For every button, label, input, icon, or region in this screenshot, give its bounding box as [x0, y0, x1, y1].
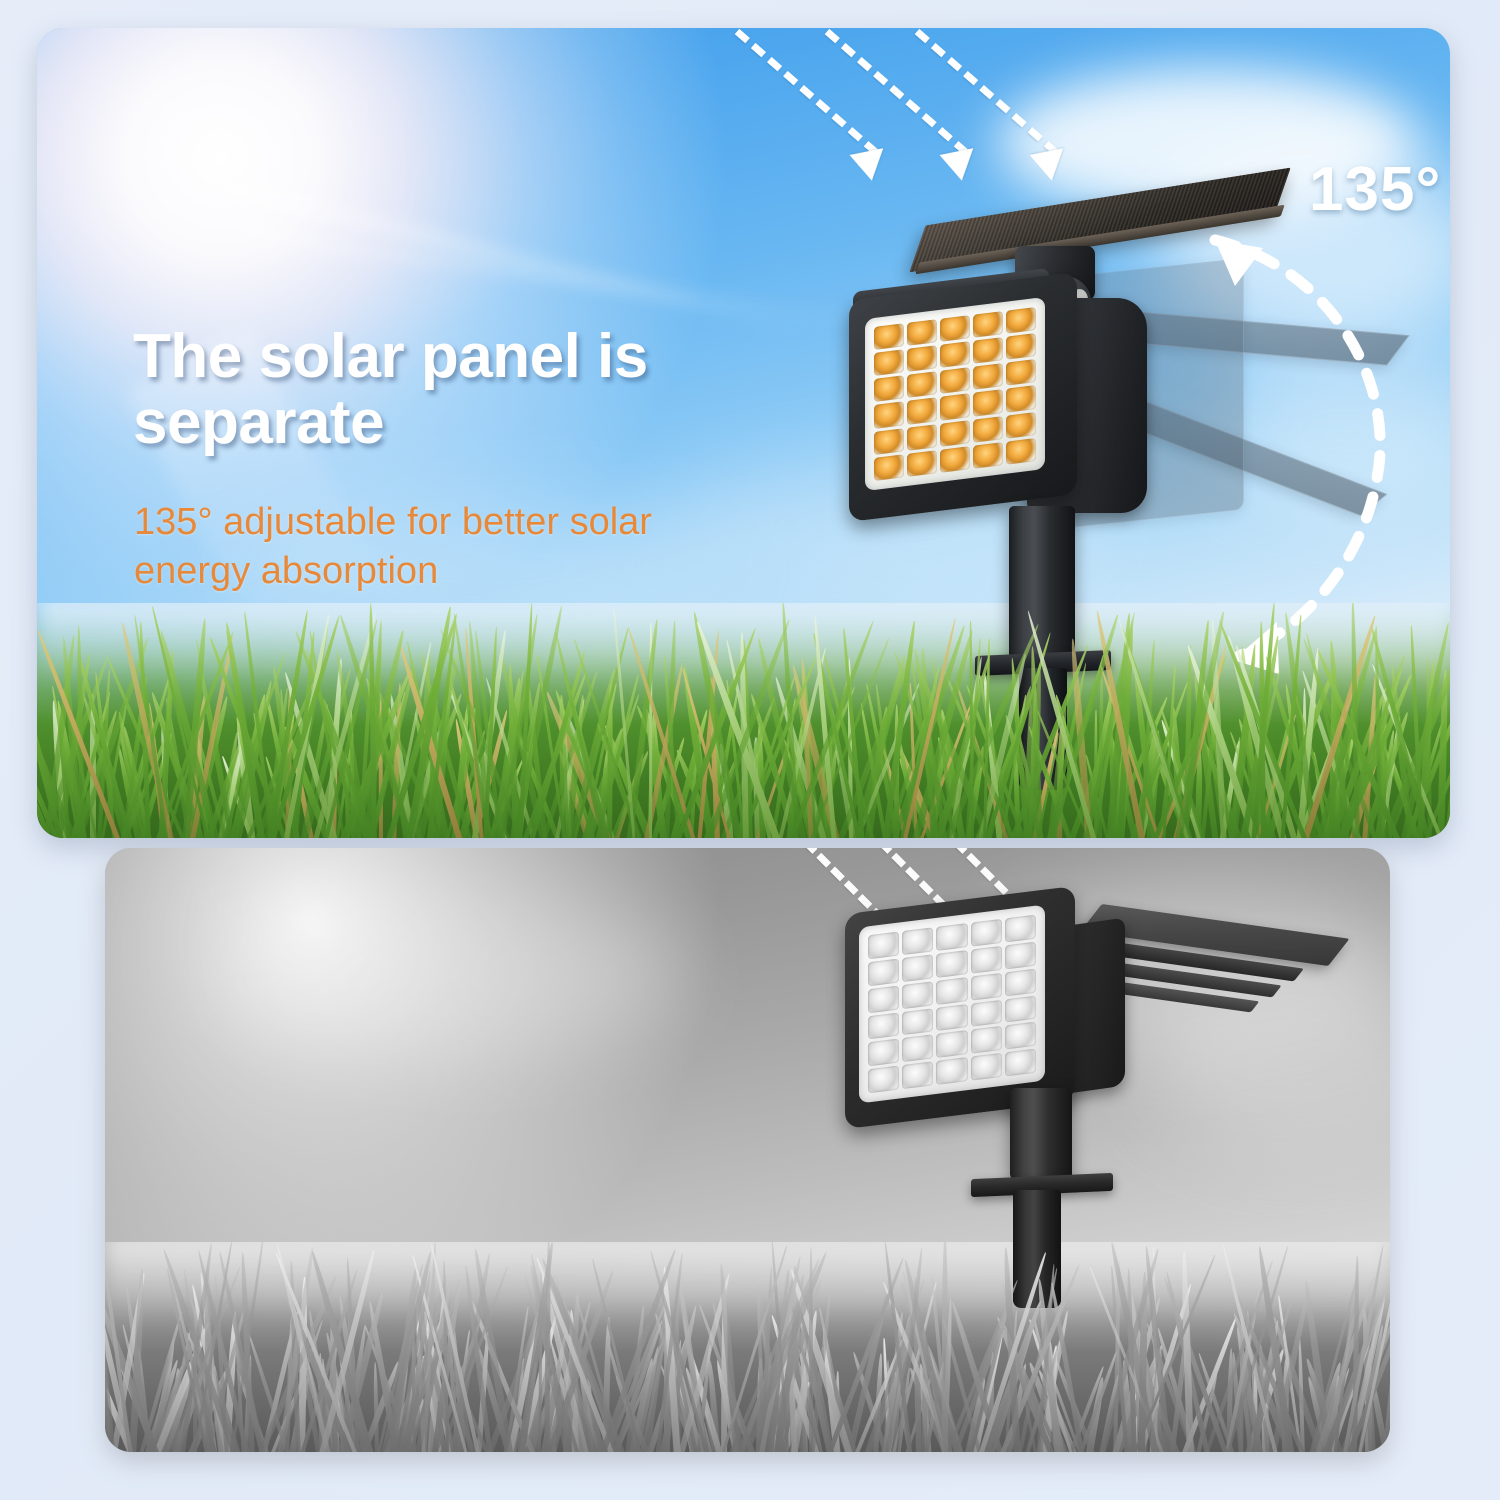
sun-ray-arrow: [917, 28, 1087, 198]
card-sunny-adjustable: 135° The solar panel is separate 135° ad…: [37, 28, 1450, 838]
led-emitter: [1005, 942, 1036, 970]
led-emitter: [936, 977, 967, 1005]
led-emitter: [868, 1066, 899, 1094]
led-emitter: [1005, 1049, 1036, 1077]
led-emitter: [940, 341, 970, 368]
led-emitter: [973, 363, 1003, 390]
led-emitter: [940, 367, 970, 394]
page-subtitle-top: 135° adjustable for better solar energy …: [134, 498, 814, 597]
led-emitter: [973, 337, 1003, 364]
led-emitter: [874, 454, 904, 481]
led-emitter: [902, 1061, 933, 1089]
led-emitter: [1005, 968, 1036, 996]
led-emitter: [971, 1053, 1002, 1081]
led-emitter: [907, 345, 937, 372]
led-emitter: [868, 958, 899, 986]
led-emitter: [971, 946, 1002, 974]
led-emitter: [1006, 307, 1036, 334]
led-emitter: [971, 1026, 1002, 1054]
led-head-cool: [845, 900, 1075, 1115]
led-emitter: [971, 973, 1002, 1001]
led-emitter: [936, 1004, 967, 1032]
led-emitter: [907, 372, 937, 399]
grass-field-grey: [105, 1242, 1390, 1452]
led-emitter: [1006, 438, 1036, 465]
led-emitter: [902, 954, 933, 982]
led-emitter: [973, 390, 1003, 417]
led-emitter: [874, 402, 904, 429]
led-emitter: [1006, 359, 1036, 386]
led-emitter: [1005, 995, 1036, 1023]
led-emitter: [874, 323, 904, 350]
led-emitter: [936, 1030, 967, 1058]
angle-label: 135°: [1309, 154, 1441, 225]
led-emitter: [902, 1035, 933, 1063]
led-emitter: [868, 931, 899, 959]
led-emitter: [907, 319, 937, 346]
led-emitter: [907, 398, 937, 425]
led-emitter: [940, 420, 970, 447]
led-emitter: [907, 450, 937, 477]
page-title-top: The solar panel is separate: [133, 324, 833, 455]
product-comparison-graphic: 135° The solar panel is separate 135° ad…: [0, 0, 1500, 1500]
led-emitter: [874, 376, 904, 403]
led-emitter: [973, 311, 1003, 338]
grass-blade: [942, 1242, 948, 1452]
led-emitter: [971, 919, 1002, 947]
led-emitter: [936, 923, 967, 951]
led-head-warm: [849, 286, 1077, 508]
led-emitter: [1006, 412, 1036, 439]
led-emitter: [868, 1012, 899, 1040]
lamp-pole: [1009, 506, 1075, 666]
led-emitter: [1006, 333, 1036, 360]
led-emitter: [940, 394, 970, 421]
led-emitter: [868, 985, 899, 1013]
cloud: [225, 888, 685, 1058]
led-emitter: [874, 349, 904, 376]
led-emitter: [973, 416, 1003, 443]
led-emitter: [1006, 386, 1036, 413]
led-emitter: [973, 442, 1003, 469]
lamp-pole: [1010, 1088, 1072, 1180]
led-emitter: [940, 446, 970, 473]
led-emitter: [907, 424, 937, 451]
led-emitter: [1005, 915, 1036, 943]
led-emitter: [971, 999, 1002, 1027]
led-emitter: [874, 428, 904, 455]
led-emitter: [936, 950, 967, 978]
led-emitter: [936, 1057, 967, 1085]
led-emitter: [902, 981, 933, 1009]
led-emitter: [902, 927, 933, 955]
led-emitter: [1005, 1022, 1036, 1050]
led-emitter: [868, 1039, 899, 1067]
card-overcast-fixed: Panel can’t adjust independently: [105, 848, 1390, 1452]
led-emitter: [902, 1008, 933, 1036]
led-emitter: [940, 315, 970, 342]
